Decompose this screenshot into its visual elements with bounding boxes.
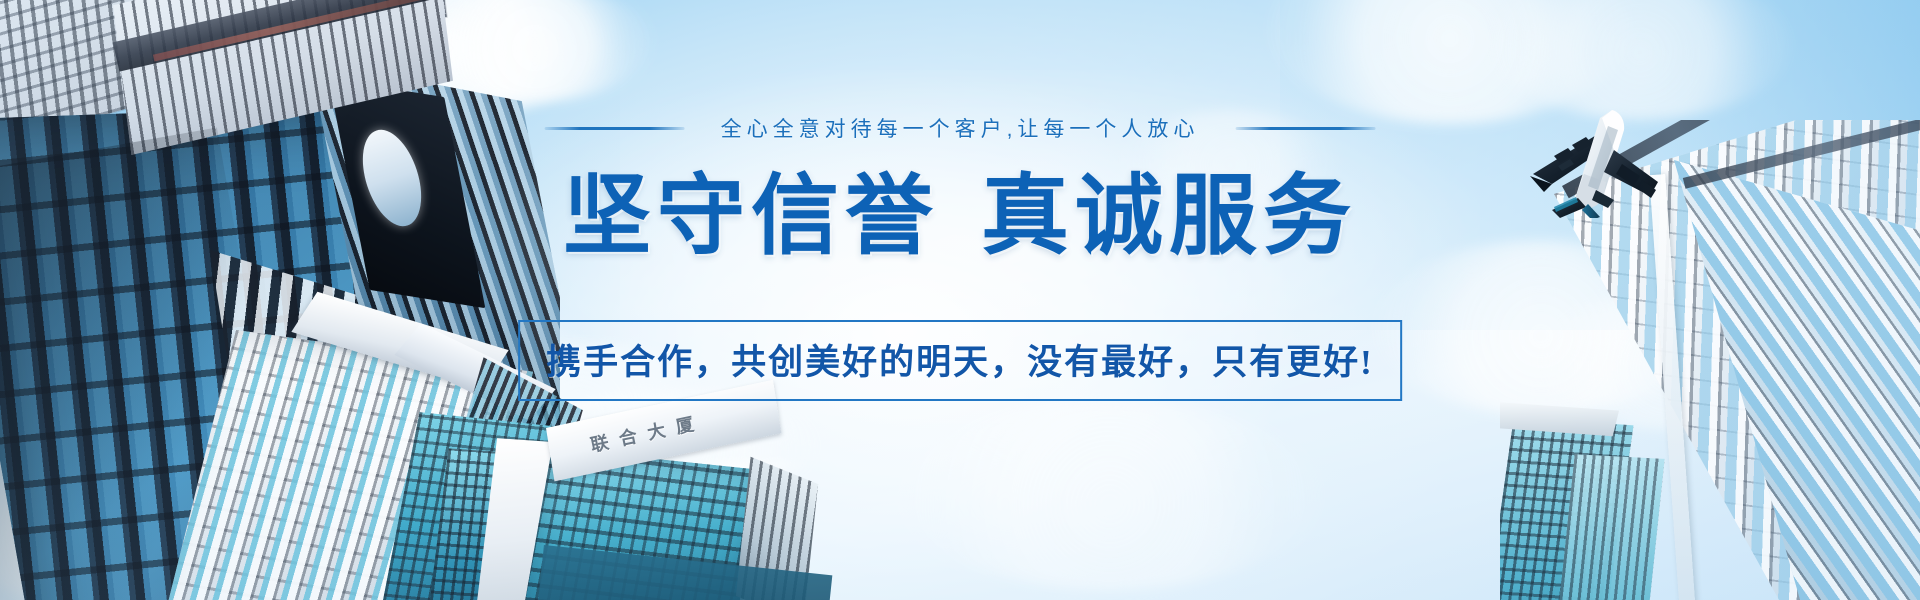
headline-part-right: 真诚服务	[981, 169, 1357, 266]
subtitle-text: 携手合作，共创美好的明天，没有最好，只有更好!	[546, 343, 1374, 382]
subtitle-box: 携手合作，共创美好的明天，没有最好，只有更好!	[518, 320, 1402, 401]
tagline-row: 全心全意对待每一个客户,让每一个人放心	[545, 113, 1376, 143]
headline-part-left: 坚守信誉	[563, 169, 939, 266]
corporate-hero-banner: 联 合 大 厦	[0, 0, 1920, 600]
tagline-text: 全心全意对待每一个客户,让每一个人放心	[721, 113, 1200, 143]
decorative-rule-right-icon	[1235, 127, 1375, 130]
banner-content: 全心全意对待每一个客户,让每一个人放心 坚守信誉真诚服务 携手合作，共创美好的明…	[0, 0, 1920, 600]
decorative-rule-left-icon	[545, 127, 685, 130]
page-title: 坚守信誉真诚服务	[563, 166, 1357, 270]
